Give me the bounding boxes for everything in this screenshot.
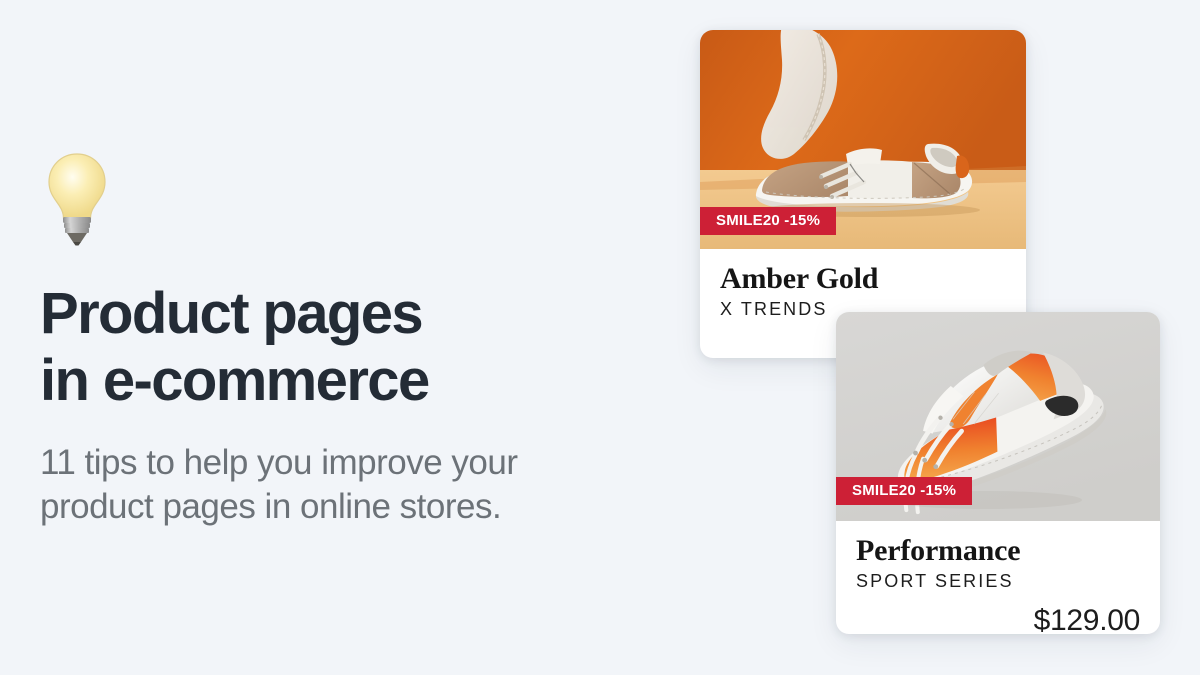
product-subtitle: SPORT SERIES [856, 571, 1140, 593]
intro-panel: Product pages in e-commerce 11 tips to h… [40, 150, 660, 529]
product-card-performance[interactable]: SMILE20 -15% Performance SPORT SERIES $1… [836, 312, 1160, 634]
discount-badge: SMILE20 -15% [836, 477, 972, 505]
product-image-performance: SMILE20 -15% [836, 312, 1160, 521]
product-card-amber-gold[interactable]: SMILE20 -15% Amber Gold X TRENDS [700, 30, 1026, 358]
product-title: Amber Gold [720, 263, 1006, 295]
discount-badge: SMILE20 -15% [700, 207, 836, 235]
product-image-amber-gold: SMILE20 -15% [700, 30, 1026, 249]
product-price: $129.00 [856, 604, 1140, 634]
page-subtitle: 11 tips to help you improve your product… [40, 441, 660, 529]
product-info-performance: Performance SPORT SERIES $129.00 [836, 521, 1160, 634]
page-title: Product pages in e-commerce [40, 280, 660, 415]
product-title: Performance [856, 535, 1140, 567]
light-bulb-icon [40, 150, 114, 246]
